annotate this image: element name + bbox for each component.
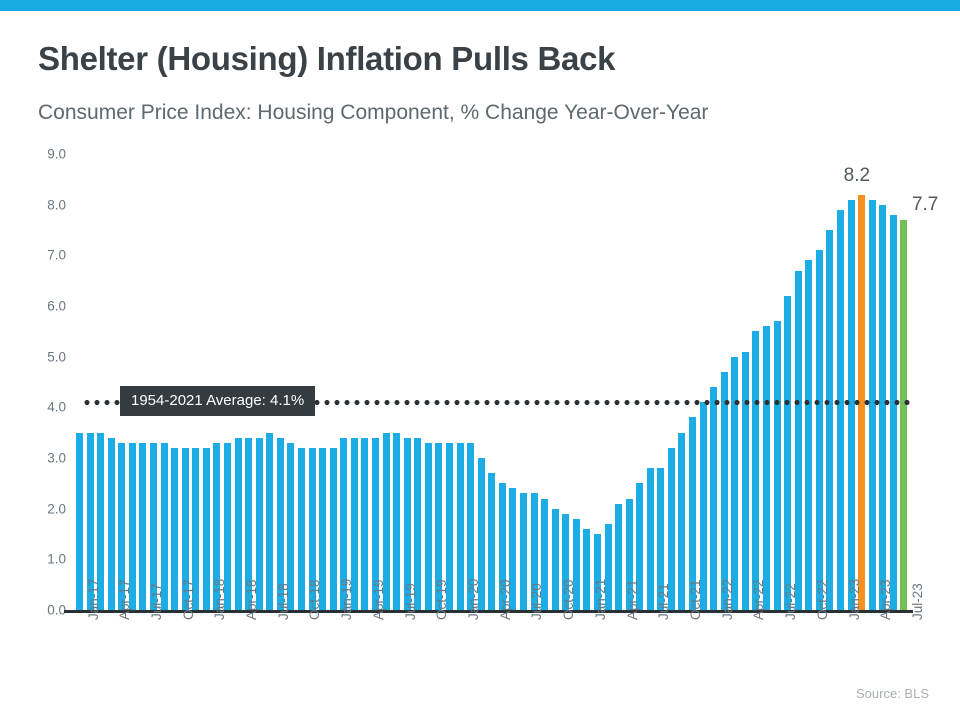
bar [816,250,823,610]
x-axis-tick-label: Apr-21 [625,579,640,620]
bar-highlight-latest [900,220,907,610]
bar [879,205,886,610]
bar [784,296,791,610]
bar [330,448,337,610]
bar [76,433,83,610]
bar [139,443,146,610]
bar [108,438,115,610]
bar [848,200,855,610]
bar [235,438,242,610]
bar [583,529,590,610]
source-note: Source: BLS [856,686,929,701]
x-axis-tick-label: Apr-22 [751,579,766,620]
x-axis-tick-label: Jan-19 [339,579,354,620]
y-axis-tick-label: 0.0 [22,603,66,618]
x-axis-tick-label: Apr-23 [878,579,893,620]
bar [457,443,464,610]
bar [266,433,273,610]
y-axis-tick-label: 3.0 [22,451,66,466]
bar-chart: 0.01.02.03.04.05.06.07.08.09.0 Jan-17Apr… [0,0,960,720]
x-axis-tick-label: Oct-20 [561,579,576,620]
bar [763,326,770,610]
x-axis-tick-label: Jul-22 [783,583,798,620]
x-axis-tick-label: Jul-20 [529,583,544,620]
x-axis-tick-label: Oct-22 [815,579,830,620]
bar [731,357,738,610]
x-axis-tick-label: Jul-17 [149,583,164,620]
bar [869,200,876,610]
y-axis-tick-label: 6.0 [22,299,66,314]
bar [710,387,717,610]
bar [837,210,844,610]
y-axis-tick-label: 4.0 [22,400,66,415]
y-axis-tick-label: 7.0 [22,248,66,263]
x-axis-tick-label: Apr-20 [498,579,513,620]
x-axis-tick-label: Jan-18 [212,579,227,620]
y-axis-tick-label: 9.0 [22,147,66,162]
bar [393,433,400,610]
y-axis-tick-label: 2.0 [22,501,66,516]
x-axis-tick-label: Jul-21 [656,583,671,620]
bar [752,331,759,610]
x-axis-tick-label: Oct-19 [434,579,449,620]
x-axis-tick-label: Apr-17 [117,579,132,620]
x-axis-tick-label: Jan-22 [720,579,735,620]
bar [774,321,781,610]
bar [361,438,368,610]
bar [795,271,802,610]
bar [805,260,812,610]
x-axis-tick-label: Apr-19 [371,579,386,620]
bar [721,372,728,610]
bar [826,230,833,610]
bar [742,352,749,610]
x-axis-tick-label: Jan-17 [86,579,101,620]
x-axis-tick-label: Jul-19 [403,583,418,620]
x-axis-tick-label: Jan-21 [593,579,608,620]
y-axis-tick-label: 8.0 [22,197,66,212]
bar [171,448,178,610]
bar [552,509,559,610]
x-axis-tick-label: Oct-17 [181,579,196,620]
y-axis-tick-label: 1.0 [22,552,66,567]
bar [203,448,210,610]
bar [488,473,495,610]
bar-value-label: 7.7 [912,194,938,216]
bar [298,448,305,610]
bar [647,468,654,610]
x-axis-tick-label: Jul-18 [276,583,291,620]
bar [520,493,527,610]
x-axis-tick-label: Jul-23 [910,583,925,620]
x-axis-tick-label: Oct-21 [688,579,703,620]
bar [890,215,897,610]
x-axis-tick-label: Jan-23 [847,579,862,620]
bar [425,443,432,610]
x-axis-tick-label: Oct-18 [307,579,322,620]
x-axis-tick-label: Jan-20 [466,579,481,620]
x-axis-tick-label: Apr-18 [244,579,259,620]
bar [615,504,622,610]
average-reference-label: 1954-2021 Average: 4.1% [120,386,315,416]
y-axis-tick-label: 5.0 [22,349,66,364]
bar-value-label: 8.2 [844,165,870,187]
bar [678,433,685,610]
